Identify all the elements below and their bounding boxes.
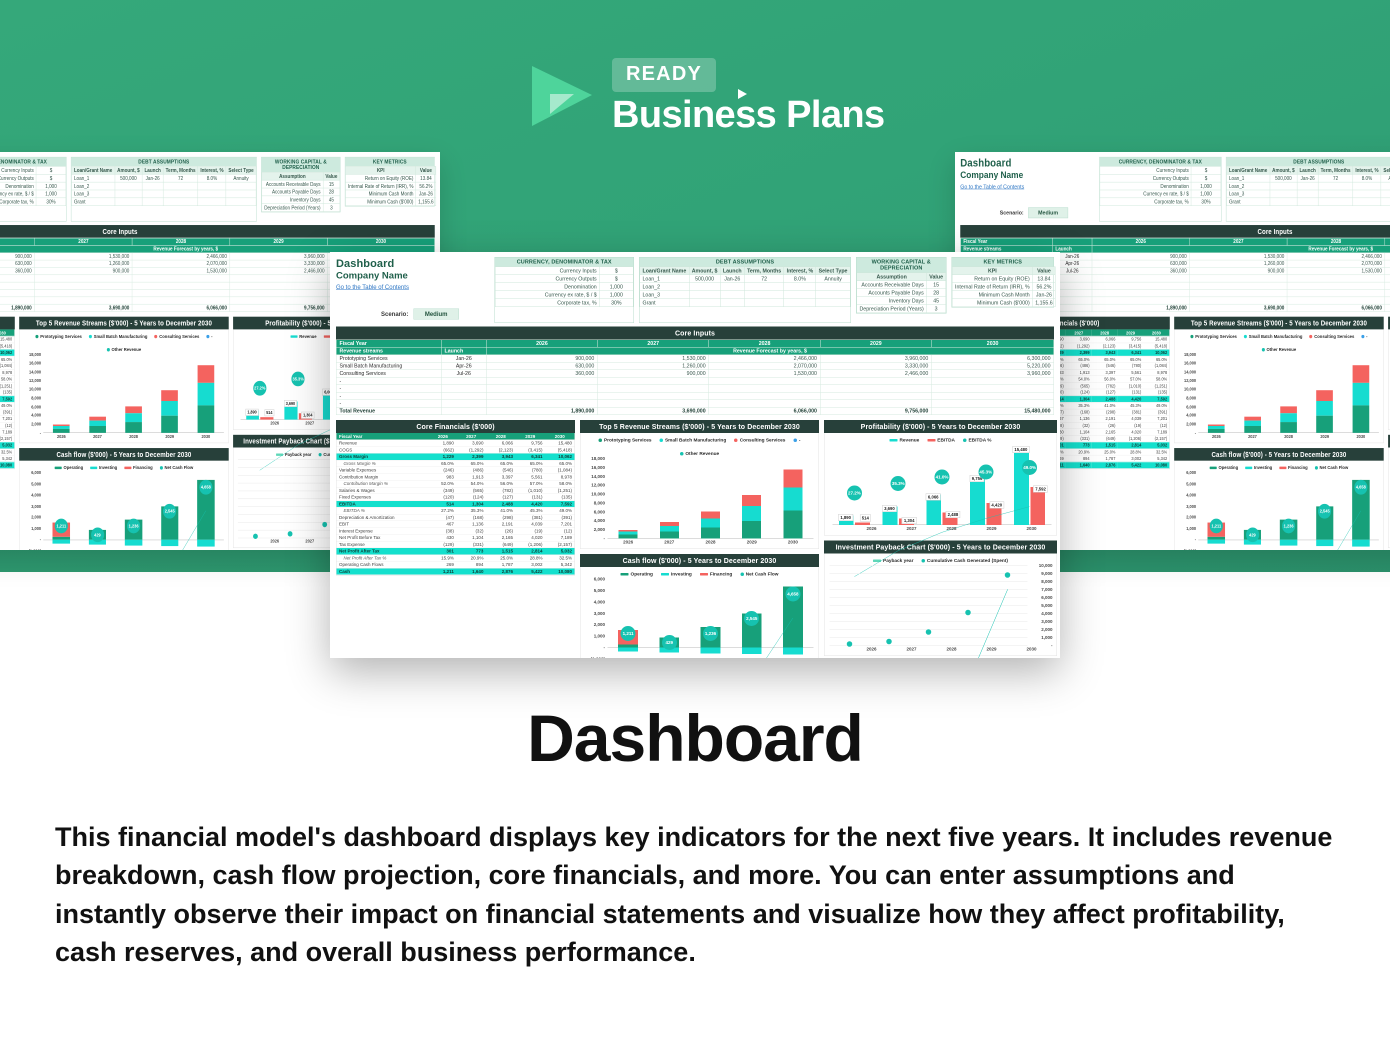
legend-item[interactable]: Other Revenue (107, 347, 141, 352)
fin-row[interactable]: Net Profit After Tax3017731,5152,8145,03… (337, 548, 575, 555)
debt-cell[interactable]: Jan-26 (142, 174, 163, 182)
legend-item[interactable]: Operating (1210, 465, 1238, 470)
scenario-selector[interactable]: Scenario: Medium (381, 309, 489, 320)
revenue-stream-value[interactable]: 3,330,000 (820, 362, 931, 370)
legend-item[interactable]: Consulting Services (734, 438, 785, 444)
key-metrics-row[interactable]: Minimum Cash Month Jan-26 (952, 291, 1055, 299)
working-capital-row[interactable]: Accounts Payable Days 28 (857, 289, 946, 297)
debt-cell[interactable] (784, 283, 816, 291)
debt-cell[interactable]: 8.0% (784, 275, 816, 283)
debt-cell[interactable] (1297, 198, 1318, 206)
stacked-bar[interactable] (1244, 354, 1261, 432)
working-capital-row[interactable]: Depreciation Period (Years) 3 (857, 305, 946, 313)
legend-item[interactable]: - (793, 438, 800, 444)
fin-row[interactable]: Interest Expense(38)(32)(26)(19)(12) (337, 528, 575, 535)
debt-cell[interactable] (198, 198, 226, 206)
debt-cell[interactable]: Annuity (1381, 174, 1390, 182)
debt-row[interactable]: Grant (1227, 198, 1390, 206)
revenue-stream-value[interactable] (1092, 297, 1190, 304)
debt-row[interactable]: Loan_3 (72, 190, 257, 198)
legend-item[interactable]: Small Batch Manufacturing (1244, 334, 1303, 339)
revenue-stream-value[interactable]: 900,000 (35, 267, 133, 274)
revenue-stream-value[interactable] (486, 400, 597, 408)
debt-cell[interactable] (115, 182, 142, 190)
legend-item[interactable]: Financing (700, 572, 732, 578)
debt-cell[interactable]: Grant (1227, 198, 1270, 206)
revenue-stream-value[interactable]: 2,466,000 (1287, 253, 1385, 260)
revenue-stream-name[interactable]: - (336, 392, 441, 400)
working-capital-value[interactable]: 28 (927, 289, 946, 297)
stacked-bar[interactable] (1353, 354, 1370, 432)
revenue-stream-value[interactable]: 900,000 (0, 253, 35, 260)
debt-cell[interactable]: Loan_3 (1227, 190, 1270, 198)
bar-segment[interactable] (198, 405, 215, 432)
scenario-selector[interactable]: Scenario: Medium (1000, 207, 1095, 218)
debt-cell[interactable]: 500,000 (1270, 174, 1297, 182)
debt-cell[interactable]: 72 (163, 174, 198, 182)
bar-segment[interactable] (783, 511, 802, 539)
table-of-contents-link[interactable]: Go to the Table of Contents (960, 183, 1095, 190)
revenue-stream-value[interactable] (820, 385, 931, 393)
revenue-stream-row[interactable]: - (336, 377, 1054, 385)
revenue-stream-value[interactable]: 360,000 (486, 370, 597, 378)
revenue-stream-value[interactable] (35, 282, 133, 289)
revenue-stream-value[interactable]: 2,070,000 (709, 362, 820, 370)
debt-row[interactable]: Loan_1500,000Jan-26728.0%Annuity (640, 275, 850, 283)
working-capital-value[interactable]: 45 (323, 196, 340, 204)
currency-row-value[interactable]: 1,000 (599, 291, 633, 299)
fin-row[interactable]: Depreciation & Amortization(47)(168)(298… (337, 514, 575, 521)
revenue-stream-value[interactable]: 5,220,000 (932, 362, 1054, 370)
debt-cell[interactable] (1381, 182, 1390, 190)
key-metrics-row[interactable]: Minimum Cash ($'000) 1,155.6 (346, 198, 436, 206)
revenue-stream-value[interactable] (486, 377, 597, 385)
debt-cell[interactable] (1318, 182, 1353, 190)
table-of-contents-link[interactable]: Go to the Table of Contents (336, 284, 489, 291)
debt-cell[interactable] (142, 190, 163, 198)
debt-cell[interactable]: Loan_1 (1227, 174, 1270, 182)
currency-row-value[interactable]: 1,000 (36, 182, 66, 190)
debt-cell[interactable] (226, 182, 256, 190)
debt-row[interactable]: Loan_3 (1227, 190, 1390, 198)
currency-row-value[interactable]: 30% (1191, 198, 1221, 206)
debt-cell[interactable]: 72 (744, 275, 784, 283)
revenue-stream-value[interactable] (0, 282, 35, 289)
revenue-stream-value[interactable] (1190, 289, 1288, 296)
bar-segment[interactable] (1208, 429, 1225, 433)
revenue-stream-name[interactable]: Consulting Services (336, 370, 441, 378)
legend-item[interactable]: Investing (1245, 465, 1272, 470)
fin-row[interactable]: Operating Cash Flows2698941,7873,0025,34… (337, 561, 575, 568)
revenue-stream-value[interactable] (132, 282, 230, 289)
revenue-stream-value[interactable]: 900,000 (1092, 253, 1190, 260)
key-metrics-value[interactable]: 13.84 (1032, 275, 1055, 283)
debt-cell[interactable]: Loan_3 (72, 190, 115, 198)
legend-item[interactable]: Consulting Services (1309, 334, 1354, 339)
currency-row-value[interactable]: $ (36, 166, 66, 174)
fin-row[interactable]: Tax Expense(129)(331)(649)(1,206)(2,157) (337, 541, 575, 548)
cumulative-cash-point[interactable] (288, 531, 293, 536)
legend-item[interactable]: Financing (124, 465, 152, 470)
fin-row[interactable]: Salaries & Wages(349)(565)(782)(1,010)(1… (337, 487, 575, 494)
revenue-stream-value[interactable] (598, 400, 709, 408)
fin-row[interactable]: EBITDA5141,3042,4884,4207,592 (337, 501, 575, 508)
revenue-stream-value[interactable] (1092, 282, 1190, 289)
fin-row[interactable]: Operating Cash Flows2698941,7873,0025,34… (0, 455, 14, 462)
key-metrics-row[interactable]: Internal Rate of Return (IRR), % 56.2% (952, 283, 1055, 291)
scenario-value[interactable]: Medium (413, 309, 459, 320)
revenue-stream-value[interactable]: 2,466,000 (820, 370, 931, 378)
legend-item[interactable]: Revenue (889, 438, 919, 444)
revenue-stream-value[interactable]: 630,000 (1092, 260, 1190, 267)
debt-cell[interactable] (1353, 198, 1381, 206)
revenue-stream-value[interactable]: 1,260,000 (35, 260, 133, 267)
currency-row-value[interactable]: 1,000 (36, 190, 66, 198)
legend-item[interactable]: Revenue (291, 334, 317, 339)
revenue-stream-value[interactable]: 2,466,000 (709, 355, 820, 363)
revenue-stream-row[interactable]: Consulting Services Jul-26 360,000900,00… (336, 370, 1054, 378)
stacked-bar[interactable] (1208, 354, 1225, 432)
revenue-stream-value[interactable]: 900,000 (1190, 267, 1288, 274)
revenue-stream-value[interactable] (230, 275, 328, 282)
bar-segment[interactable] (198, 383, 215, 406)
working-capital-row[interactable]: Inventory Days 45 (262, 196, 340, 204)
legend-item[interactable]: Investing (661, 572, 692, 578)
debt-cell[interactable]: 8.0% (1353, 174, 1381, 182)
revenue-stream-value[interactable]: 360,000 (0, 267, 35, 274)
revenue-stream-value[interactable]: 2,466,000 (230, 267, 328, 274)
dashboard-screenshot-main[interactable]: Dashboard Company Name Go to the Table o… (330, 252, 1060, 658)
debt-cell[interactable]: Loan_2 (72, 182, 115, 190)
revenue-stream-value[interactable]: 1,530,000 (709, 370, 820, 378)
currency-row-value[interactable]: $ (36, 174, 66, 182)
revenue-stream-launch[interactable] (441, 392, 486, 400)
cumulative-cash-point[interactable] (926, 629, 932, 635)
legend-item[interactable]: Other Revenue (680, 451, 719, 457)
fin-row[interactable]: COGS(662)(1,292)(2,123)(3,415)(5,418) (337, 447, 575, 454)
debt-cell[interactable]: Loan_2 (1227, 182, 1270, 190)
debt-cell[interactable] (744, 283, 784, 291)
fin-row[interactable]: Salaries & Wages(349)(565)(782)(1,010)(1… (0, 382, 14, 389)
revenue-stream-value[interactable] (1385, 289, 1390, 296)
debt-cell[interactable]: Grant (640, 299, 689, 307)
stacked-bar[interactable] (619, 459, 638, 539)
stacked-bar[interactable] (1316, 354, 1333, 432)
revenue-stream-value[interactable]: 3,330,000 (230, 260, 328, 267)
legend-item[interactable]: Net Cash Flow (1315, 465, 1349, 470)
revenue-stream-value[interactable] (1190, 275, 1288, 282)
bar-segment[interactable] (783, 470, 802, 488)
revenue-stream-value[interactable] (35, 289, 133, 296)
revenue-stream-value[interactable] (1385, 297, 1390, 304)
debt-cell[interactable]: 500,000 (115, 174, 142, 182)
debt-cell[interactable] (720, 291, 744, 299)
debt-cell[interactable]: Loan_1 (640, 275, 689, 283)
bar-segment[interactable] (742, 506, 761, 521)
revenue-stream-value[interactable] (932, 377, 1054, 385)
revenue-stream-value[interactable] (1092, 275, 1190, 282)
legend-item[interactable]: Operating (621, 572, 653, 578)
revenue-stream-value[interactable]: 630,000 (0, 260, 35, 267)
fin-row[interactable]: Gross Margin %65.0%65.0%65.0%65.0%65.0% (337, 460, 575, 467)
debt-cell[interactable]: Jan-26 (1297, 174, 1318, 182)
working-capital-row[interactable]: Inventory Days 45 (857, 297, 946, 305)
legend-item[interactable]: Small Batch Manufacturing (660, 438, 727, 444)
working-capital-value[interactable]: 28 (323, 188, 340, 196)
key-metrics-row[interactable]: Minimum Cash Month Jan-26 (346, 190, 436, 198)
debt-cell[interactable] (816, 291, 850, 299)
revenue-stream-launch[interactable]: Jul-26 (441, 370, 486, 378)
key-metrics-row[interactable]: Return on Equity (ROE) 13.84 (346, 174, 436, 182)
revenue-stream-value[interactable]: 1,530,000 (35, 253, 133, 260)
fin-row[interactable]: EBITDA5141,3042,4884,4207,592 (0, 396, 14, 403)
cumulative-cash-point[interactable] (322, 522, 327, 527)
bar-segment[interactable] (1353, 365, 1370, 382)
bar-segment[interactable] (53, 429, 70, 433)
currency-row-value[interactable]: $ (599, 267, 633, 275)
debt-cell[interactable] (1297, 190, 1318, 198)
key-metrics-row[interactable]: Internal Rate of Return (IRR), % 56.2% (346, 182, 436, 190)
bar-segment[interactable] (125, 413, 142, 422)
debt-row[interactable]: Loan_2 (1227, 182, 1390, 190)
revenue-stream-value[interactable] (932, 392, 1054, 400)
revenue-stream-value[interactable] (598, 392, 709, 400)
revenue-stream-value[interactable]: 900,000 (486, 355, 597, 363)
revenue-stream-value[interactable]: 3,960,000 (230, 253, 328, 260)
stacked-bar[interactable] (660, 459, 679, 539)
fin-row[interactable]: EBITDA %27.2%35.3%41.0%45.3%49.0% (337, 507, 575, 514)
revenue-stream-row[interactable]: Small Batch Manufacturing Apr-26 630,000… (336, 362, 1054, 370)
stacked-bar[interactable] (701, 459, 720, 539)
revenue-stream-value[interactable]: 2,466,000 (1385, 267, 1390, 274)
debt-cell[interactable] (226, 198, 256, 206)
stacked-bar[interactable] (783, 459, 802, 539)
revenue-stream-value[interactable] (820, 392, 931, 400)
key-metrics-value[interactable]: 13.84 (416, 174, 436, 182)
bar-segment[interactable] (660, 532, 679, 539)
revenue-stream-value[interactable] (932, 385, 1054, 393)
revenue-stream-launch[interactable] (441, 377, 486, 385)
currency-row-value[interactable]: $ (1191, 166, 1221, 174)
bar-segment[interactable] (701, 512, 720, 519)
debt-cell[interactable] (1270, 182, 1297, 190)
debt-cell[interactable] (816, 299, 850, 307)
bar-segment[interactable] (1316, 416, 1333, 433)
working-capital-row[interactable]: Accounts Payable Days 28 (262, 188, 340, 196)
fin-row[interactable]: Net Profit After Tax3017731,5152,8145,03… (0, 442, 14, 449)
revenue-stream-value[interactable] (486, 385, 597, 393)
key-metrics-value[interactable]: 1,155.6 (1032, 299, 1055, 307)
fin-row[interactable]: Gross Margin1,2292,3993,9436,34110,062 (337, 453, 575, 460)
revenue-stream-value[interactable] (486, 392, 597, 400)
fin-row[interactable]: Contribution Margin %52.0%54.0%56.0%57.0… (337, 480, 575, 487)
debt-row[interactable]: Grant (640, 299, 850, 307)
bar-segment[interactable] (1280, 422, 1297, 433)
working-capital-value[interactable]: 3 (323, 204, 340, 212)
debt-cell[interactable] (142, 198, 163, 206)
legend-item[interactable]: Financing (1279, 465, 1307, 470)
revenue-stream-name[interactable]: Prototyping Services (336, 355, 441, 363)
revenue-stream-name[interactable]: - (336, 400, 441, 408)
bar-segment[interactable] (701, 528, 720, 539)
revenue-stream-value[interactable] (598, 377, 709, 385)
revenue-stream-value[interactable] (1287, 282, 1385, 289)
bar-segment[interactable] (1353, 405, 1370, 432)
fin-row[interactable]: Net Profit After Tax %15.9%20.9%25.0%28.… (337, 555, 575, 562)
debt-cell[interactable] (198, 190, 226, 198)
debt-cell[interactable] (689, 291, 720, 299)
bar-segment[interactable] (89, 426, 106, 433)
stacked-bar[interactable] (198, 354, 215, 432)
legend-item[interactable]: Net Cash Flow (160, 465, 194, 470)
scenario-value[interactable]: Medium (1028, 207, 1068, 218)
fin-row[interactable]: Gross Margin %65.0%65.0%65.0%65.0%65.0% (0, 356, 14, 363)
debt-cell[interactable] (163, 198, 198, 206)
debt-cell[interactable] (720, 283, 744, 291)
revenue-stream-value[interactable] (1190, 282, 1288, 289)
working-capital-row[interactable]: Accounts Receivable Days 15 (857, 281, 946, 289)
legend-item[interactable]: Small Batch Manufacturing (89, 334, 148, 339)
key-metrics-value[interactable]: 56.2% (416, 182, 436, 190)
debt-row[interactable]: Loan_2 (640, 283, 850, 291)
fin-row[interactable]: Net Profit After Tax %15.9%20.9%25.0%28.… (0, 449, 14, 456)
working-capital-value[interactable]: 45 (927, 297, 946, 305)
revenue-stream-value[interactable]: 3,960,000 (1385, 253, 1390, 260)
revenue-stream-value[interactable] (820, 377, 931, 385)
legend-item[interactable]: Operating (55, 465, 83, 470)
revenue-stream-value[interactable]: 1,260,000 (1190, 260, 1288, 267)
bar-segment[interactable] (1244, 426, 1261, 433)
debt-cell[interactable]: Loan_2 (640, 283, 689, 291)
debt-cell[interactable]: 72 (1318, 174, 1353, 182)
fin-row[interactable]: Tax Expense(129)(331)(649)(1,206)(2,157) (0, 435, 14, 442)
debt-cell[interactable] (689, 299, 720, 307)
bar-segment[interactable] (619, 535, 638, 539)
debt-cell[interactable] (115, 190, 142, 198)
currency-row-value[interactable]: 30% (36, 198, 66, 206)
debt-cell[interactable] (1270, 198, 1297, 206)
debt-cell[interactable]: 8.0% (198, 174, 226, 182)
revenue-stream-value[interactable] (1190, 297, 1288, 304)
revenue-stream-row[interactable]: - (336, 392, 1054, 400)
debt-cell[interactable]: 500,000 (689, 275, 720, 283)
revenue-stream-value[interactable] (709, 392, 820, 400)
debt-row[interactable]: Loan_3 (640, 291, 850, 299)
stacked-bar[interactable] (125, 354, 142, 432)
revenue-stream-value[interactable]: 1,530,000 (132, 267, 230, 274)
legend-item[interactable]: EBITDA % (963, 438, 992, 444)
legend-item[interactable]: EBITDA (927, 438, 955, 444)
revenue-stream-value[interactable]: 900,000 (598, 370, 709, 378)
bar-segment[interactable] (1280, 406, 1297, 413)
revenue-stream-value[interactable] (0, 275, 35, 282)
legend-item[interactable]: Prototyping Services (35, 334, 81, 339)
bar-segment[interactable] (701, 518, 720, 527)
debt-cell[interactable] (1381, 198, 1390, 206)
revenue-stream-value[interactable] (132, 289, 230, 296)
debt-cell[interactable]: Grant (72, 198, 115, 206)
debt-row[interactable]: Loan_1500,000Jan-26728.0%Annuity (1227, 174, 1390, 182)
debt-cell[interactable] (1297, 182, 1318, 190)
legend-item[interactable]: Investing (90, 465, 117, 470)
bar-segment[interactable] (1316, 401, 1333, 416)
bar-segment[interactable] (198, 365, 215, 382)
revenue-stream-value[interactable]: 1,530,000 (1287, 267, 1385, 274)
revenue-stream-value[interactable] (709, 385, 820, 393)
currency-row-value[interactable]: $ (1191, 174, 1221, 182)
revenue-stream-value[interactable] (35, 275, 133, 282)
key-metrics-value[interactable]: 1,155.6 (416, 198, 436, 206)
bar-segment[interactable] (125, 406, 142, 413)
revenue-stream-name[interactable]: Small Batch Manufacturing (336, 362, 441, 370)
debt-cell[interactable]: Loan_1 (72, 174, 115, 182)
debt-cell[interactable] (1381, 190, 1390, 198)
legend-item[interactable]: Prototyping Services (1190, 334, 1236, 339)
revenue-stream-value[interactable]: 6,300,000 (932, 355, 1054, 363)
debt-cell[interactable] (744, 299, 784, 307)
stacked-bar[interactable] (53, 354, 70, 432)
revenue-stream-value[interactable] (598, 385, 709, 393)
debt-cell[interactable] (784, 291, 816, 299)
legend-item[interactable]: - (1361, 334, 1367, 339)
working-capital-row[interactable]: Depreciation Period (Years) 3 (262, 204, 340, 212)
revenue-stream-value[interactable] (0, 297, 35, 304)
debt-cell[interactable]: Annuity (816, 275, 850, 283)
debt-cell[interactable] (816, 283, 850, 291)
debt-cell[interactable] (744, 291, 784, 299)
revenue-stream-name[interactable]: - (336, 385, 441, 393)
legend-item[interactable]: Prototyping Services (598, 438, 651, 444)
key-metrics-value[interactable]: 56.2% (1032, 283, 1055, 291)
revenue-stream-value[interactable] (1287, 289, 1385, 296)
revenue-stream-value[interactable]: 1,530,000 (598, 355, 709, 363)
debt-row[interactable]: Loan_2 (72, 182, 257, 190)
key-metrics-row[interactable]: Return on Equity (ROE) 13.84 (952, 275, 1055, 283)
key-metrics-row[interactable]: Minimum Cash ($'000) 1,155.6 (952, 299, 1055, 307)
fin-row[interactable]: Cash1,2111,6402,8765,42210,080 (0, 462, 14, 469)
fin-row[interactable]: Contribution Margin9831,9133,3975,5618,9… (337, 474, 575, 481)
revenue-stream-launch[interactable] (441, 385, 486, 393)
legend-item[interactable]: Consulting Services (154, 334, 199, 339)
debt-cell[interactable] (226, 190, 256, 198)
revenue-stream-value[interactable] (230, 282, 328, 289)
legend-item[interactable]: - (206, 334, 212, 339)
revenue-stream-value[interactable] (709, 377, 820, 385)
bar-segment[interactable] (1280, 413, 1297, 422)
bar-segment[interactable] (783, 487, 802, 510)
currency-row-value[interactable]: 30% (599, 299, 633, 307)
revenue-stream-value[interactable] (132, 275, 230, 282)
bar-segment[interactable] (161, 401, 178, 416)
revenue-stream-value[interactable]: 3,330,000 (1385, 260, 1390, 267)
cumulative-cash-point[interactable] (886, 639, 892, 645)
working-capital-value[interactable]: 3 (927, 305, 946, 313)
legend-item[interactable]: Net Cash Flow (740, 572, 778, 578)
debt-row[interactable]: Grant (72, 198, 257, 206)
currency-row-value[interactable]: $ (599, 275, 633, 283)
currency-row-value[interactable]: 1,000 (1191, 190, 1221, 198)
revenue-stream-value[interactable] (132, 297, 230, 304)
debt-cell[interactable] (720, 299, 744, 307)
legend-item[interactable]: Other Revenue (1262, 347, 1296, 352)
debt-cell[interactable] (1270, 190, 1297, 198)
debt-cell[interactable] (115, 198, 142, 206)
revenue-stream-value[interactable]: 1,260,000 (598, 362, 709, 370)
cumulative-cash-point[interactable] (1005, 572, 1011, 578)
stacked-bar[interactable] (1280, 354, 1297, 432)
revenue-stream-launch[interactable]: Jan-26 (441, 355, 486, 363)
debt-cell[interactable]: Annuity (226, 174, 256, 182)
